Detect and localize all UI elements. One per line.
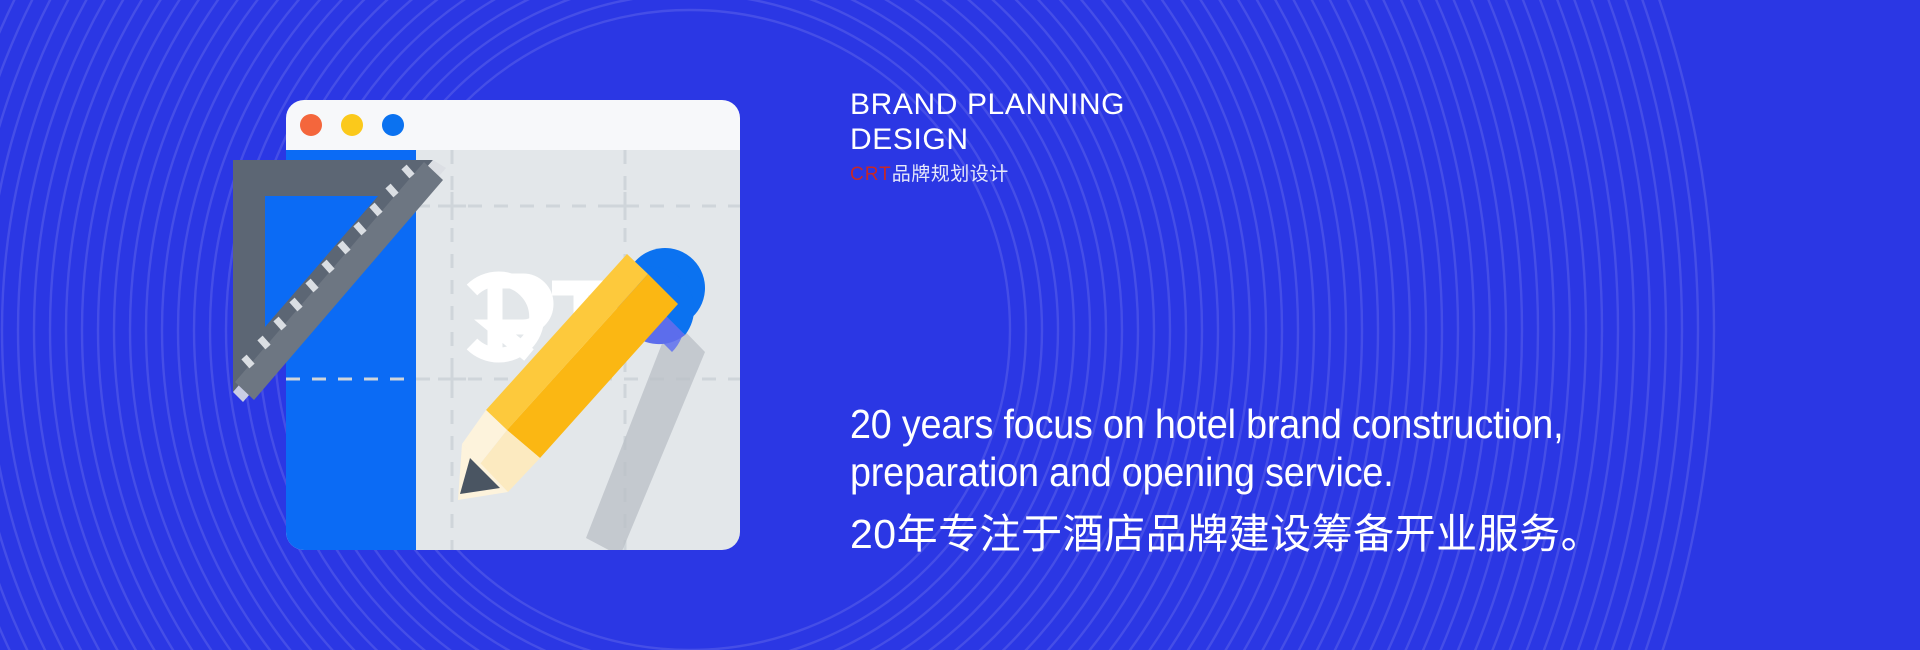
eyebrow-block: BRAND PLANNING DESIGN CRT品牌规划设计 — [850, 88, 1125, 187]
window-dot-blue — [382, 114, 404, 136]
blueprint-dashed-grid — [286, 150, 740, 550]
pencil — [458, 254, 678, 500]
tagline-english: 20 years focus on hotel brand constructi… — [850, 400, 1770, 497]
eyebrow-chinese-text: 品牌规划设计 — [892, 164, 1009, 185]
pencil-tip-base — [458, 444, 508, 500]
crt-paper-logo — [472, 279, 636, 355]
window-titlebar — [286, 100, 740, 150]
window-card — [286, 100, 740, 550]
tagline-block: 20 years focus on hotel brand constructi… — [850, 400, 1850, 559]
triangle-ruler-body — [233, 160, 433, 392]
brand-name-crt: CRT — [850, 164, 892, 185]
brand-banner: BRAND PLANNING DESIGN CRT品牌规划设计 20 years… — [0, 0, 1920, 650]
eyebrow-english-heading: BRAND PLANNING DESIGN — [850, 88, 1125, 158]
triangle-ruler — [233, 160, 446, 402]
triangle-ruler-ticks — [244, 167, 412, 366]
pencil-eraser — [617, 248, 705, 354]
window-blue-panel — [286, 150, 416, 550]
triangle-ruler-tick-strip — [235, 162, 443, 400]
pencil-body-light — [486, 254, 648, 430]
banner-copy: BRAND PLANNING DESIGN CRT品牌规划设计 20 years… — [850, 0, 1910, 650]
triangle-ruler-cutout — [265, 196, 378, 327]
pencil-tip-graphite — [460, 458, 500, 494]
pencil-shadow — [586, 318, 705, 556]
pencil-wood-light — [462, 410, 507, 464]
tagline-chinese: 20年专注于酒店品牌建设筹备开业服务。 — [850, 510, 1850, 559]
triangle-ruler-edge — [233, 160, 446, 402]
pencil-wood-dark — [480, 430, 540, 492]
window-body — [286, 150, 740, 550]
pencil-body-dark — [507, 274, 678, 458]
blueprint-cross-marks — [438, 192, 639, 393]
window-dot-red — [300, 114, 322, 136]
eyebrow-chinese-subheading: CRT品牌规划设计 — [850, 163, 1125, 188]
window-dot-yellow — [341, 114, 363, 136]
